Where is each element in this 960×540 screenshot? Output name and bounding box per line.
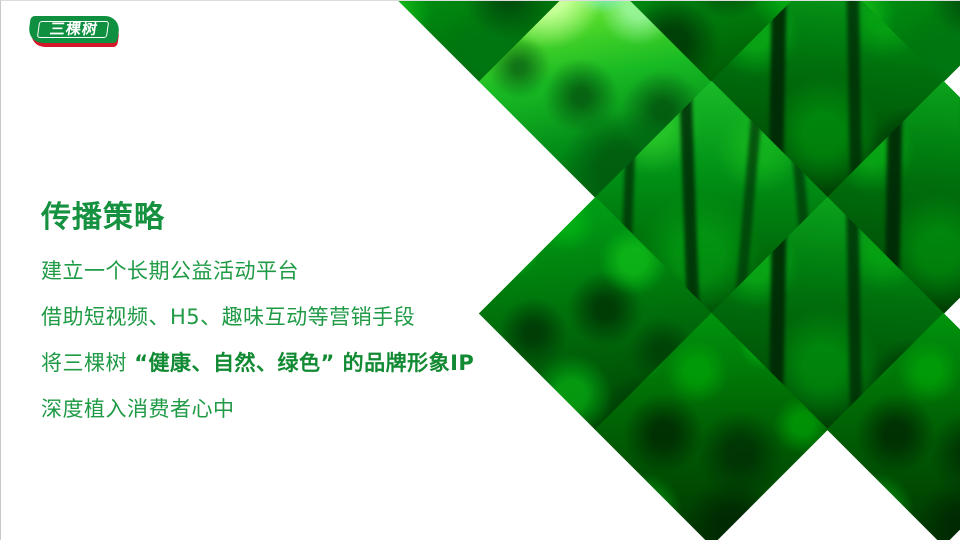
diamond-tile-canopy-branches [363, 0, 596, 82]
diamond-tile-deep-forest-trunks [711, 0, 944, 198]
forest-photo-shaded-trees-lower [711, 197, 944, 430]
diamond-tile-forest-trunks [595, 81, 828, 314]
content-text-block: 传播策略 建立一个长期公益活动平台 借助短视频、H5、趣味互动等营销手段 将三棵… [41, 199, 561, 421]
forest-photo-sky-gap-leaves [595, 0, 828, 82]
body-line-3-quoted-emphasis: “健康、自然、绿色” [134, 351, 335, 375]
body-line-3: 将三棵树 “健康、自然、绿色” 的品牌形象IP [41, 351, 561, 375]
forest-photo-forest-floor-moss [595, 313, 828, 540]
diamond-tile-shaded-trees [827, 81, 960, 314]
body-line-2: 借助短视频、H5、趣味互动等营销手段 [41, 305, 561, 329]
body-line-4: 深度植入消费者心中 [41, 397, 561, 421]
slide-canvas: 三棵树 传播策略 建立一个长期公益活动平台 借助短视频、H5、趣味互动等营销手段… [0, 0, 960, 540]
diamond-tile-forest-floor-moss [595, 313, 828, 540]
body-line-3-suffix: 的品牌形象IP [335, 351, 475, 375]
body-line-3-prefix: 将三棵树 [41, 351, 134, 375]
forest-photo-forest-trunks [595, 81, 828, 314]
diamond-tile-sky-gap-leaves [595, 0, 828, 82]
diamond-tile-sunlit-canopy [479, 0, 712, 198]
body-line-1: 建立一个长期公益活动平台 [41, 259, 561, 283]
diamond-tile-shaded-trees-lower [711, 197, 944, 430]
diamond-tile-canopy-edge-top [827, 0, 960, 82]
forest-photo-sunlit-canopy [479, 0, 712, 198]
forest-photo-canopy-edge-top [827, 0, 960, 82]
forest-photo-canopy-branches [363, 0, 596, 82]
diamond-tile-canopy-far-right [827, 313, 960, 540]
page-title: 传播策略 [41, 199, 561, 237]
brand-logo: 三棵树 [29, 13, 121, 49]
logo-brand-text: 三棵树 [28, 20, 121, 38]
forest-photo-shaded-trees [827, 81, 960, 314]
forest-photo-canopy-far-right [827, 313, 960, 540]
forest-photo-deep-forest-trunks [711, 0, 944, 198]
